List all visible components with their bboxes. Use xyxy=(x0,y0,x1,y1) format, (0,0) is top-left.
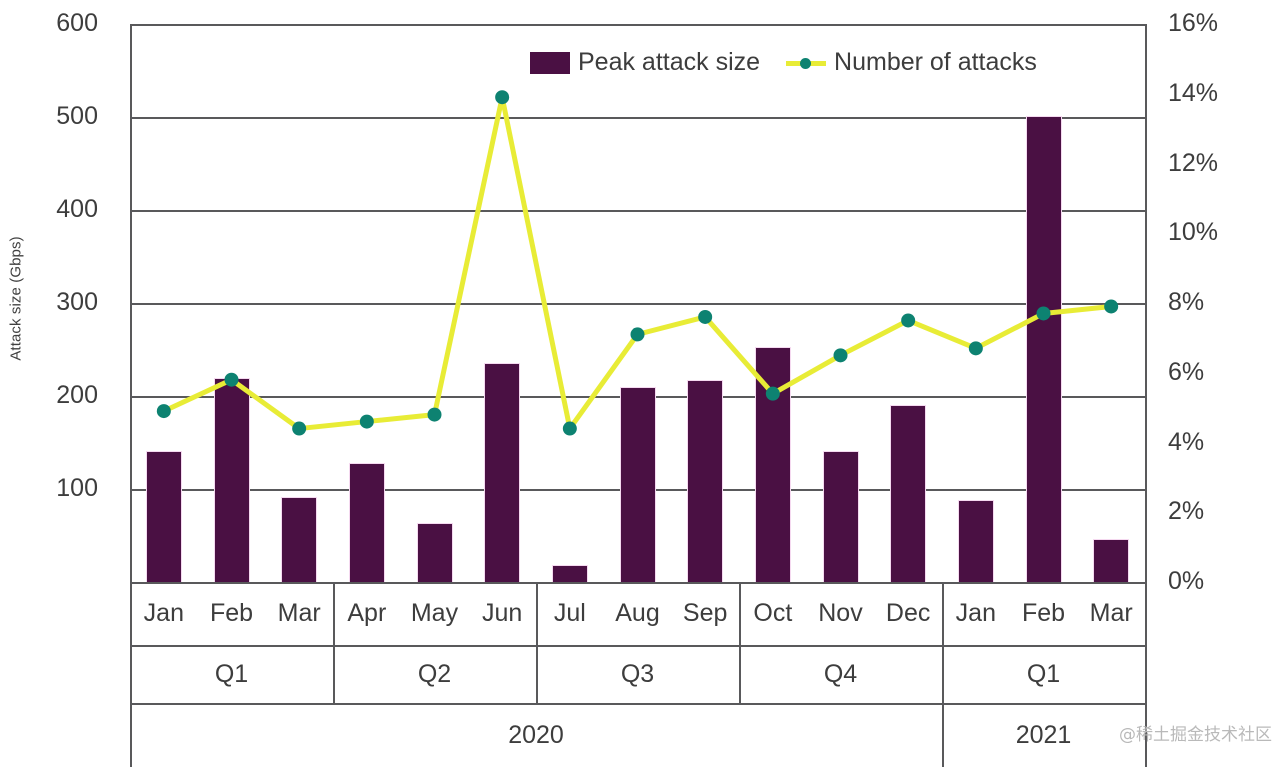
month-label-12: Jan xyxy=(942,582,1010,645)
line-marker-jan-12 xyxy=(969,341,983,355)
right-axis-spine xyxy=(1145,24,1147,582)
left-tick-600: 600 xyxy=(0,11,98,36)
category-axis: JanFebMarAprMayJunJulAugSepOctNovDecJanF… xyxy=(130,582,1147,767)
right-tick-2pct: 2% xyxy=(1168,499,1280,524)
quarter-label-3: Q4 xyxy=(739,645,942,703)
month-label-6: Jul xyxy=(536,582,604,645)
year-label-1: 2021 xyxy=(942,703,1145,767)
right-tick-0pct: 0% xyxy=(1168,569,1280,594)
quarter-separator-2 xyxy=(536,645,538,703)
quarter-label-0: Q1 xyxy=(130,645,333,703)
line-marker-mar-2 xyxy=(292,422,306,436)
line-marker-aug-7 xyxy=(631,327,645,341)
line-marker-apr-3 xyxy=(360,415,374,429)
right-tick-4pct: 4% xyxy=(1168,430,1280,455)
quarter-label-4: Q1 xyxy=(942,645,1145,703)
watermark: @稀土掘金技术社区 xyxy=(1119,720,1272,745)
left-tick-100: 100 xyxy=(0,476,98,501)
month-label-8: Sep xyxy=(671,582,739,645)
year-separator-1 xyxy=(942,703,944,767)
quarter-separator-2 xyxy=(536,582,538,645)
quarter-row: Q1Q2Q3Q4Q1 xyxy=(130,645,1147,703)
line-marker-mar-14 xyxy=(1104,299,1118,313)
line-series-number-of-attacks xyxy=(130,24,1145,582)
quarter-separator-4 xyxy=(942,645,944,703)
line-marker-may-4 xyxy=(428,408,442,422)
left-tick-500: 500 xyxy=(0,104,98,129)
row-edge-left xyxy=(130,703,132,767)
quarter-separator-1 xyxy=(333,645,335,703)
line-marker-feb-13 xyxy=(1037,306,1051,320)
line-marker-jul-6 xyxy=(563,422,577,436)
month-label-9: Oct xyxy=(739,582,807,645)
left-tick-400: 400 xyxy=(0,197,98,222)
row-edge-left xyxy=(130,582,132,645)
month-label-0: Jan xyxy=(130,582,198,645)
month-label-11: Dec xyxy=(874,582,942,645)
row-edge-right xyxy=(1145,645,1147,703)
quarter-separator-3 xyxy=(739,582,741,645)
quarter-separator-1 xyxy=(333,582,335,645)
month-label-1: Feb xyxy=(198,582,266,645)
line-marker-sep-8 xyxy=(698,310,712,324)
right-tick-8pct: 8% xyxy=(1168,290,1280,315)
quarter-separator-4 xyxy=(942,582,944,645)
month-label-10: Nov xyxy=(807,582,875,645)
quarter-label-1: Q2 xyxy=(333,645,536,703)
quarter-separator-3 xyxy=(739,645,741,703)
line-path-number-of-attacks xyxy=(164,97,1111,428)
month-label-4: May xyxy=(401,582,469,645)
right-tick-6pct: 6% xyxy=(1168,360,1280,385)
left-tick-300: 300 xyxy=(0,290,98,315)
month-label-2: Mar xyxy=(265,582,333,645)
plot-area xyxy=(130,24,1145,582)
line-marker-feb-1 xyxy=(225,373,239,387)
line-marker-dec-11 xyxy=(901,313,915,327)
month-label-7: Aug xyxy=(604,582,672,645)
year-row: 20202021 xyxy=(130,703,1147,767)
month-label-13: Feb xyxy=(1010,582,1078,645)
line-marker-oct-9 xyxy=(766,387,780,401)
year-label-0: 2020 xyxy=(130,703,942,767)
line-marker-jun-5 xyxy=(495,90,509,104)
month-label-3: Apr xyxy=(333,582,401,645)
row-edge-right xyxy=(1145,582,1147,645)
right-tick-16pct: 16% xyxy=(1168,11,1280,36)
row-edge-left xyxy=(130,645,132,703)
chart-container: Attack size (Gbps) Distribution of attac… xyxy=(0,0,1280,767)
right-tick-10pct: 10% xyxy=(1168,220,1280,245)
line-marker-nov-10 xyxy=(834,348,848,362)
left-tick-200: 200 xyxy=(0,383,98,408)
quarter-label-2: Q3 xyxy=(536,645,739,703)
month-label-5: Jun xyxy=(468,582,536,645)
month-label-14: Mar xyxy=(1077,582,1145,645)
right-tick-12pct: 12% xyxy=(1168,151,1280,176)
month-row: JanFebMarAprMayJunJulAugSepOctNovDecJanF… xyxy=(130,582,1147,645)
line-marker-jan-0 xyxy=(157,404,171,418)
right-tick-14pct: 14% xyxy=(1168,81,1280,106)
